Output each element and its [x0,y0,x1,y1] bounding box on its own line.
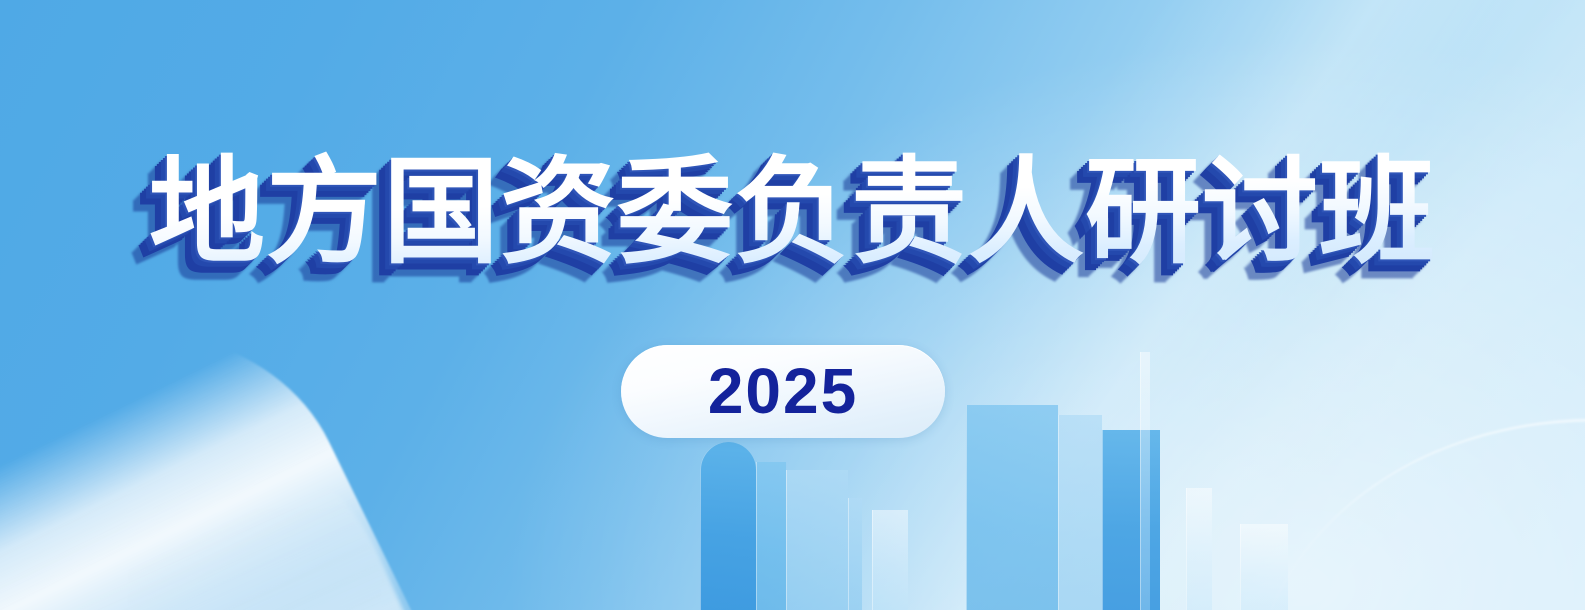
building-tower-left-thin [848,498,862,610]
building-tower-mid-pale [872,510,908,610]
event-banner: 地方国资委负责人研讨班 2025 [0,0,1585,610]
title-container: 地方国资委负责人研讨班 [0,148,1585,278]
building-tower-right-ledge [1186,488,1212,610]
year-badge-label: 2025 [708,359,858,423]
building-tower-left-slim [756,462,786,610]
building-tower-spire-base [1102,430,1160,610]
building-tower-spire-mast [1140,352,1150,610]
building-tower-center-slab [1058,415,1102,610]
building-tower-left-block [786,470,848,610]
year-badge: 2025 [621,345,945,438]
building-tower-left-round [700,442,756,610]
banner-title: 地方国资委负责人研讨班 [149,148,1436,278]
building-tower-center-wide [966,405,1058,610]
